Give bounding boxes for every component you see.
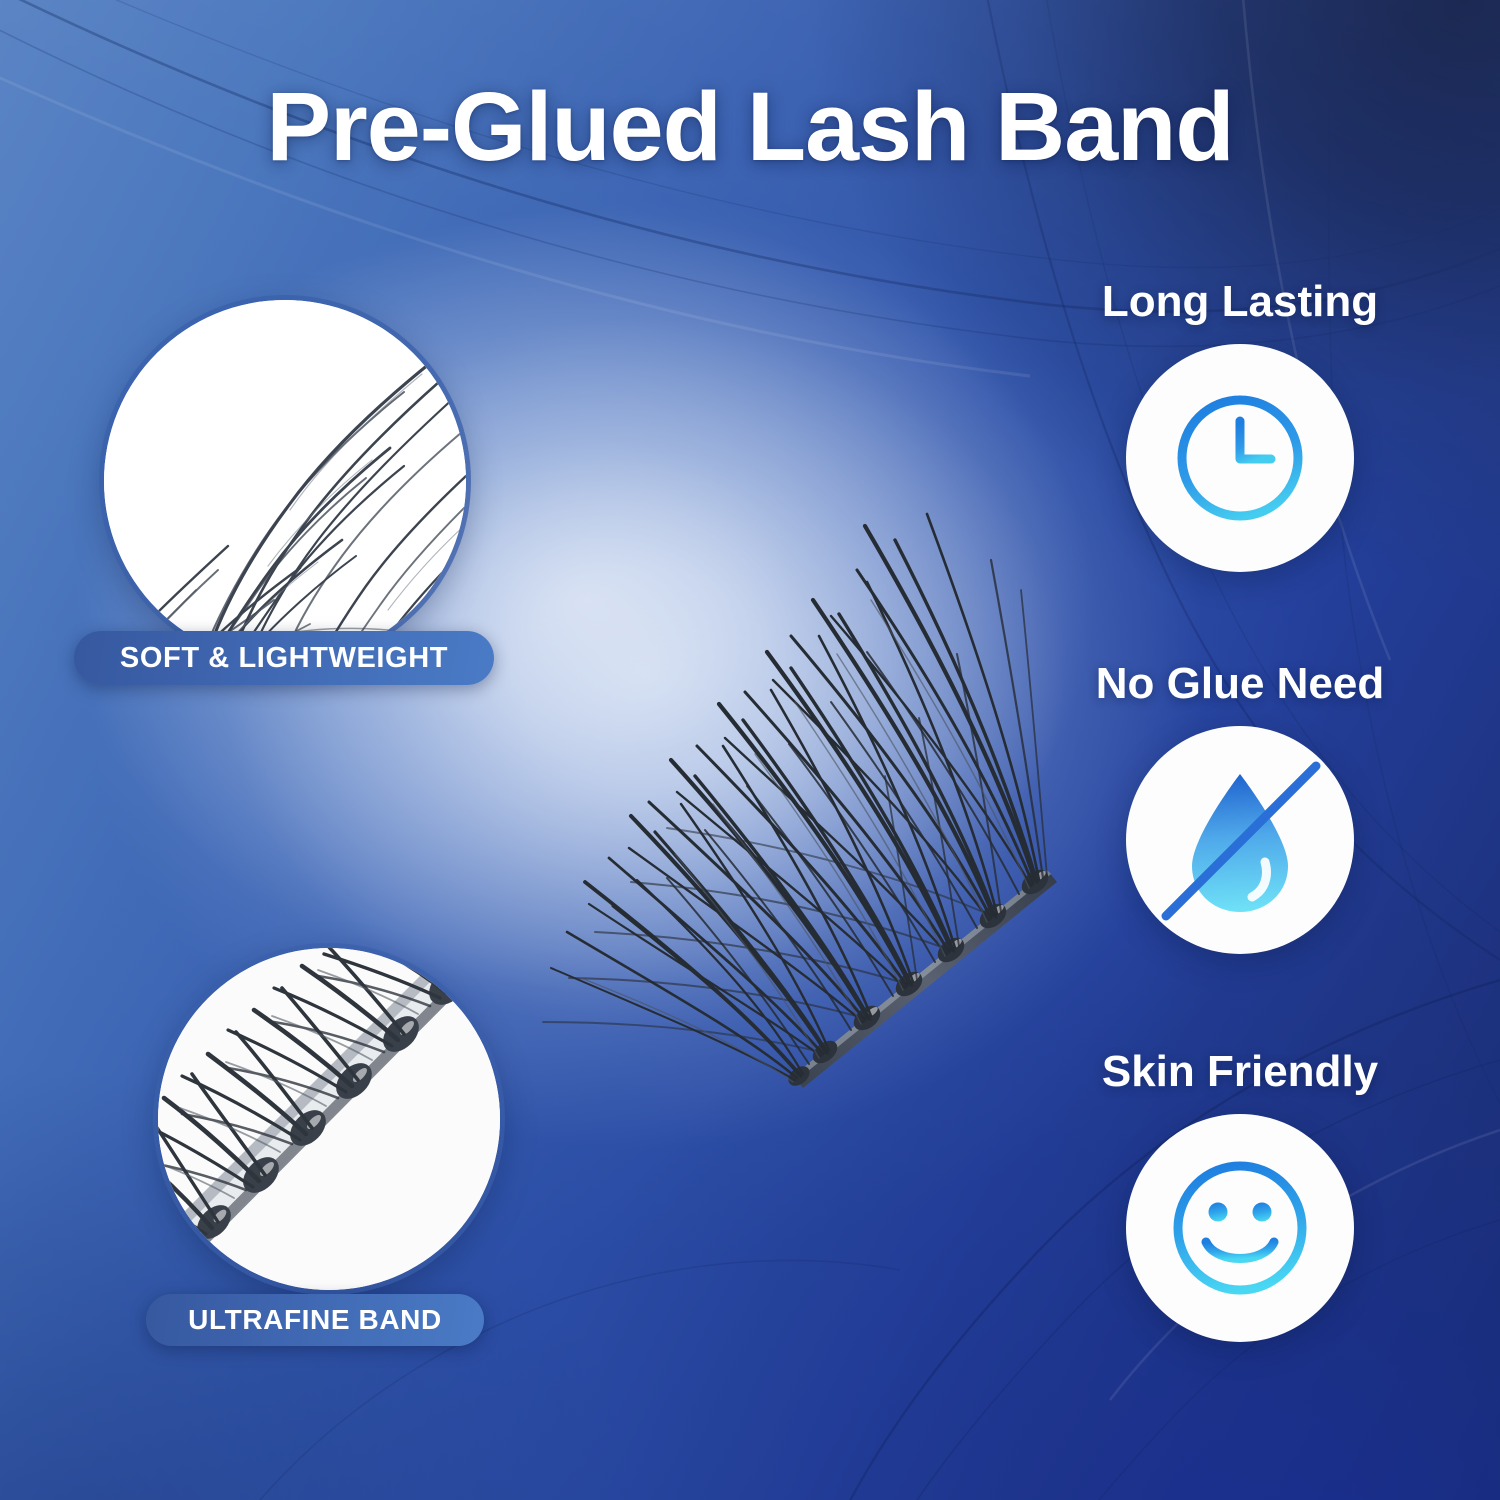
page-title: Pre-Glued Lash Band	[0, 78, 1500, 177]
smiley-face-icon	[1160, 1148, 1320, 1308]
feature-icon-circle	[1126, 726, 1354, 954]
badge-ultrafine-band: ULTRAFINE BAND	[146, 1294, 484, 1346]
product-marketing-image: Pre-Glued Lash Band	[0, 0, 1500, 1500]
feature-icon-circle	[1126, 344, 1354, 572]
lash-strip-illustration	[395, 430, 1115, 1120]
clock-icon	[1165, 383, 1315, 533]
feature-long-lasting: Long Lasting	[1030, 278, 1450, 572]
feature-title: No Glue Need	[1030, 660, 1450, 708]
product-lash-strip-image	[395, 430, 1115, 1120]
feature-skin-friendly: Skin Friendly	[1030, 1048, 1450, 1342]
feature-icon-circle	[1126, 1114, 1354, 1342]
badge-label: ULTRAFINE BAND	[188, 1304, 442, 1336]
water-drop-slashed-icon	[1152, 752, 1328, 928]
feature-title: Skin Friendly	[1030, 1048, 1450, 1096]
feature-no-glue-need: No Glue Need	[1030, 660, 1450, 954]
feature-title: Long Lasting	[1030, 278, 1450, 326]
